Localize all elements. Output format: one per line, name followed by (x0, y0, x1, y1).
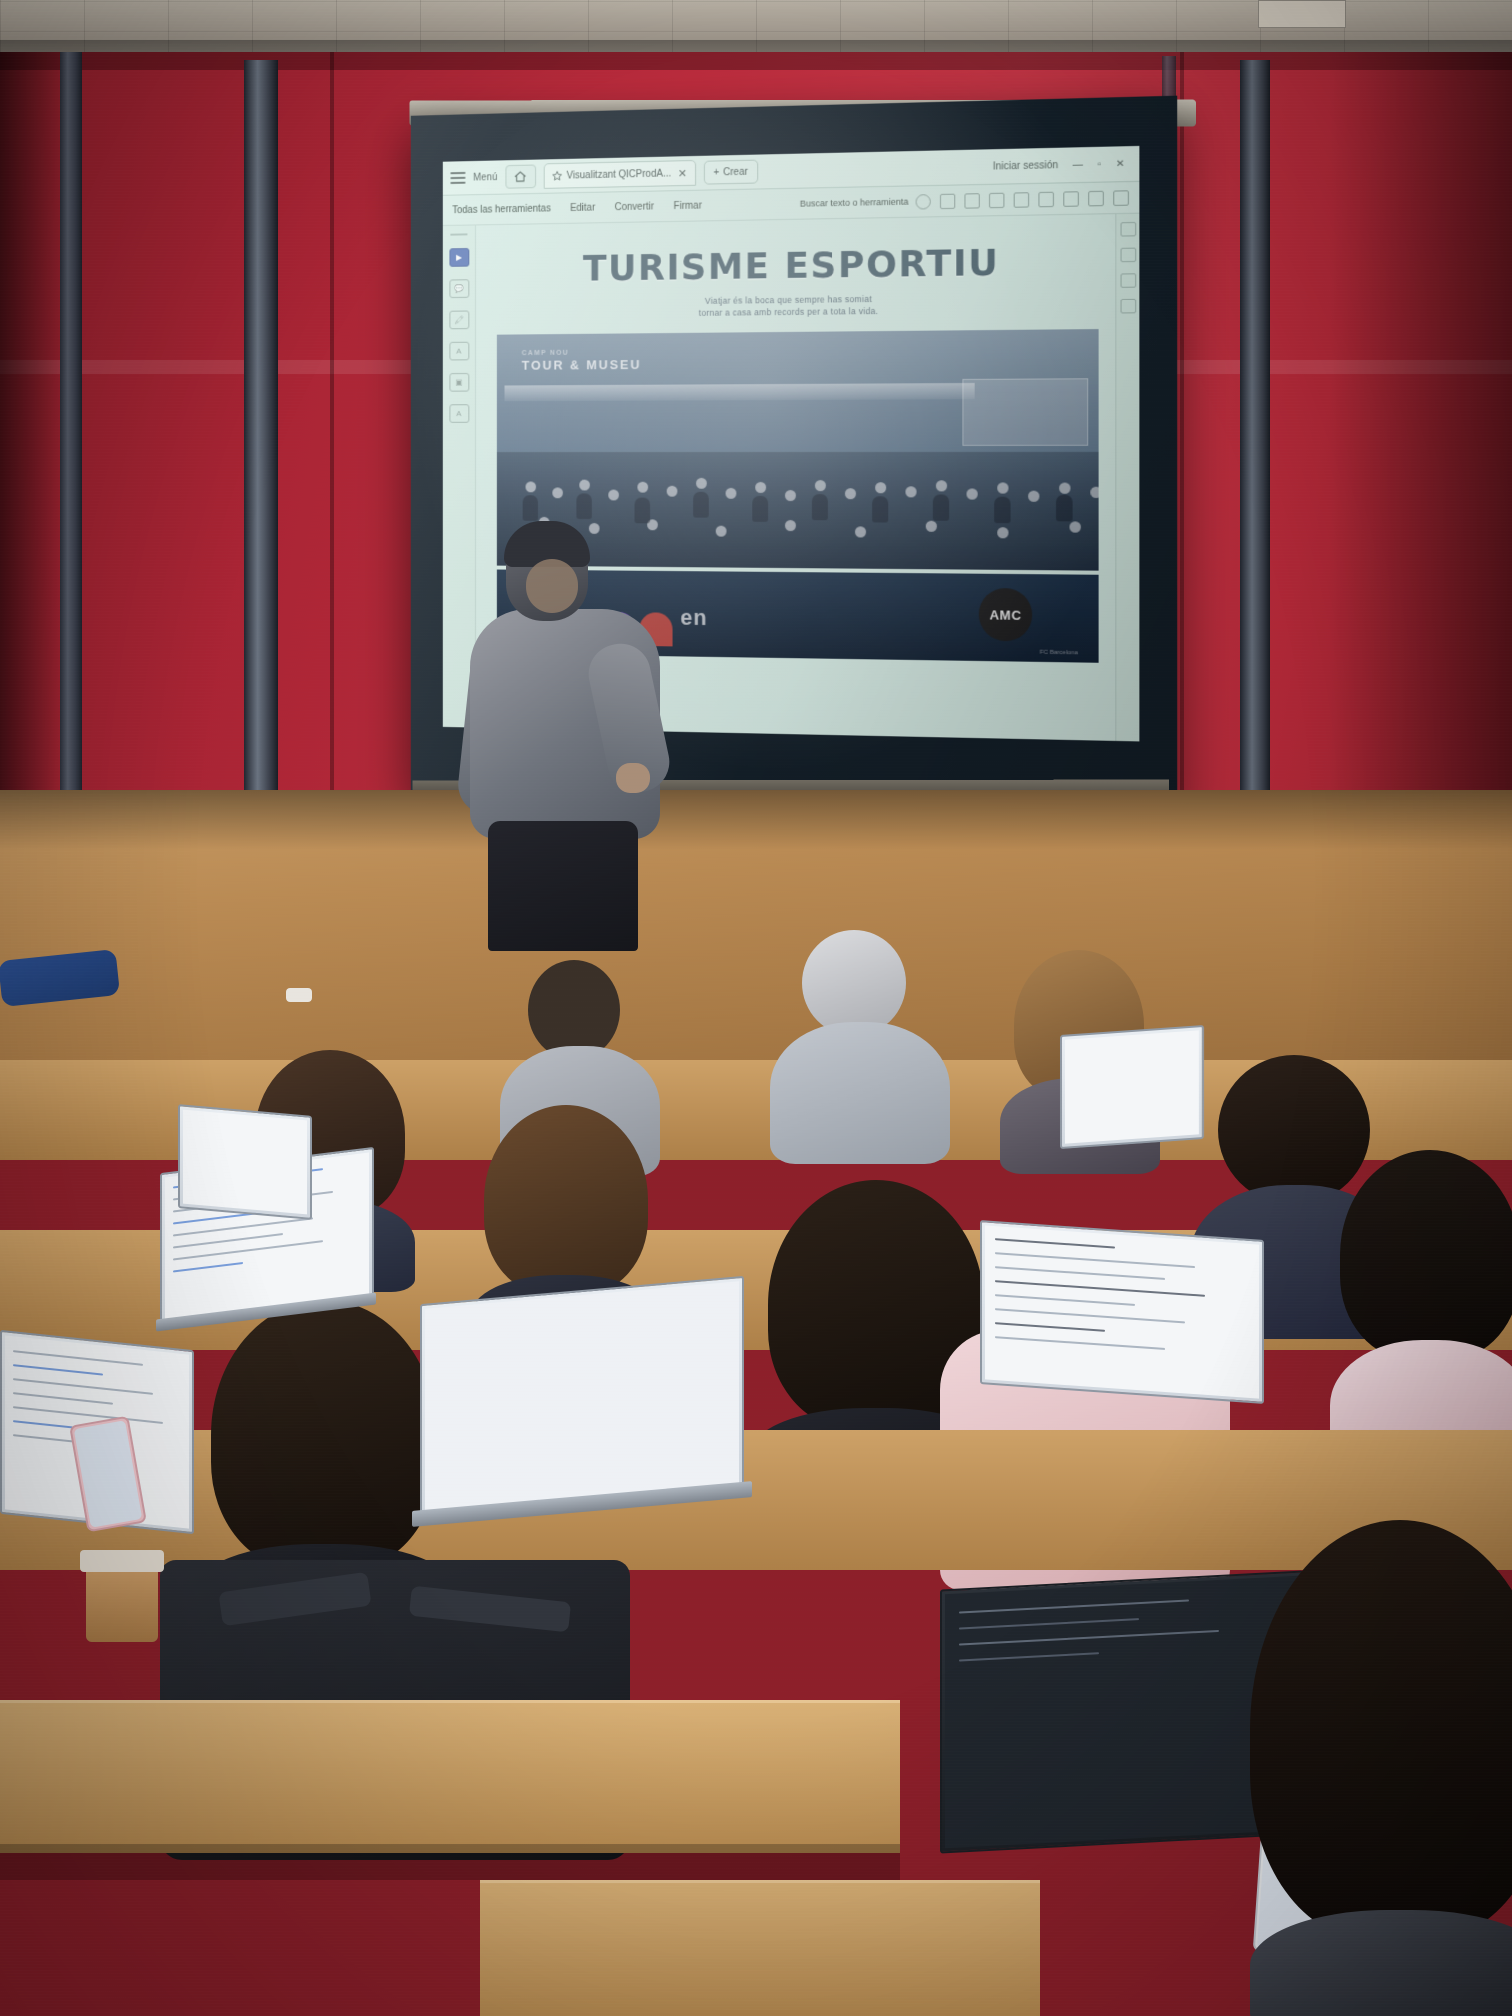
presenter-legs (488, 821, 638, 951)
slide-subtitle: Viatjar és la boca que sempre has somiat… (476, 290, 1115, 322)
tablet-screen[interactable] (1065, 1030, 1199, 1143)
create-button[interactable]: + Crear (704, 160, 758, 185)
head (528, 960, 620, 1060)
page-nav-icon[interactable] (940, 193, 955, 208)
toolbar-search[interactable]: Buscar texto o herramienta (800, 190, 1129, 211)
head-grey-hair (802, 930, 906, 1036)
home-icon[interactable] (505, 165, 536, 189)
white-object (286, 988, 312, 1002)
slide-title: TURISME ESPORTIU (476, 241, 1115, 291)
wall-shadow-right (1330, 52, 1512, 852)
amc-logo: AMC (979, 588, 1032, 641)
text-box-icon[interactable]: A (449, 342, 469, 361)
window-controls[interactable]: Iniciar sessión — ▫ ✕ (993, 158, 1131, 172)
close-icon[interactable]: ✕ (678, 167, 687, 180)
comment-icon[interactable]: 💬 (449, 279, 469, 298)
wall-shadow-left (0, 52, 60, 852)
laptop-screen[interactable] (945, 1576, 1299, 1849)
wall-top-band (0, 52, 1512, 70)
tool-edit[interactable]: Editar (570, 202, 595, 213)
toolbar-icon-group[interactable] (916, 190, 1129, 209)
tablet-lid[interactable] (178, 1104, 312, 1220)
bookmarks-icon[interactable] (1120, 273, 1136, 288)
rotate-icon[interactable] (1038, 191, 1054, 207)
right-panel-rail[interactable] (1115, 214, 1139, 742)
plus-icon: + (713, 167, 719, 178)
wall-pillar (1240, 60, 1270, 850)
menu-label[interactable]: Menú (473, 172, 498, 183)
desk-shadow (0, 1844, 900, 1880)
coffee-cup (86, 1560, 158, 1642)
photo-scene: Menú Visualitzant QICProdA... ✕ + Crear (0, 0, 1512, 2016)
floor-shadow (0, 790, 1512, 850)
thumbnails-icon[interactable] (1120, 248, 1136, 263)
building-awning (505, 383, 975, 401)
laptop-lid[interactable] (420, 1276, 744, 1518)
torso-hoodie (770, 1022, 950, 1164)
venue-sign: CAMP NOU TOUR & MUSEU (522, 349, 642, 373)
search-label: Buscar texto o herramienta (800, 197, 909, 209)
tool-convert[interactable]: Convertir (615, 201, 654, 213)
student-foreground-right (1250, 1520, 1512, 2016)
tablet-screen[interactable] (183, 1110, 307, 1215)
presenter (470, 525, 670, 945)
close-window-icon[interactable]: ✕ (1116, 158, 1125, 169)
rail-divider (450, 233, 467, 235)
venue-sign-main: TOUR & MUSEU (522, 357, 642, 373)
student-row1-center (770, 930, 950, 1160)
presenter-hand (616, 763, 650, 793)
hair-long (484, 1105, 648, 1295)
highlight-icon[interactable]: 🖍 (449, 311, 469, 330)
hair-long (1250, 1520, 1512, 1940)
minimize-icon[interactable]: — (1073, 159, 1083, 170)
desk-foreground-left (0, 1700, 900, 1853)
laptop-screen[interactable] (985, 1225, 1259, 1398)
tool-all-tools[interactable]: Todas las herramientas (452, 203, 551, 216)
brand-wordmark: en (680, 605, 707, 631)
desk-foreground-bottom (480, 1880, 1040, 2016)
ceiling-vent (1258, 0, 1346, 28)
wall-seam (330, 52, 334, 852)
slide-credit: FC Barcelona (1040, 650, 1078, 657)
zoom-in-icon[interactable] (989, 192, 1004, 208)
cup-lid (80, 1550, 164, 1572)
tab-title: Visualitzant QICProdA... (567, 168, 671, 181)
select-tool-icon[interactable]: ▶ (449, 248, 469, 267)
attachments-icon[interactable] (1120, 299, 1136, 314)
comment-icon[interactable] (1063, 191, 1079, 207)
maximize-icon[interactable]: ▫ (1098, 159, 1102, 170)
laptop-screen[interactable] (425, 1281, 739, 1512)
star-icon (552, 171, 562, 181)
stamp-icon[interactable]: ▣ (449, 373, 469, 392)
zoom-out-icon[interactable] (964, 193, 979, 209)
phone-screen[interactable] (74, 1420, 143, 1528)
hair-long (211, 1300, 437, 1570)
building-window (962, 378, 1088, 446)
venue-sign-small: CAMP NOU (522, 349, 642, 357)
torso (1250, 1910, 1512, 2016)
backpack-strap (409, 1586, 571, 1633)
more-icon[interactable] (1113, 190, 1129, 206)
hamburger-menu-icon[interactable] (450, 172, 465, 184)
wall-pillar (60, 52, 82, 842)
presenter-face (526, 559, 578, 613)
tablet-lid[interactable] (1060, 1025, 1204, 1149)
signature-icon[interactable]: A (449, 404, 469, 423)
hair-long (1340, 1150, 1512, 1360)
tool-sign[interactable]: Firmar (674, 200, 702, 211)
search-icon[interactable] (916, 194, 931, 209)
wall-pillar (244, 60, 278, 840)
document-tab[interactable]: Visualitzant QICProdA... ✕ (544, 160, 696, 189)
panel-icon[interactable] (1120, 222, 1136, 237)
laptop-lid[interactable] (980, 1220, 1264, 1404)
create-label: Crear (723, 166, 748, 177)
fit-page-icon[interactable] (1014, 192, 1029, 208)
highlight-icon[interactable] (1088, 190, 1104, 206)
wall-seam (1180, 52, 1184, 852)
backpack-strap (218, 1572, 371, 1627)
session-label[interactable]: Iniciar sessión (993, 159, 1058, 172)
